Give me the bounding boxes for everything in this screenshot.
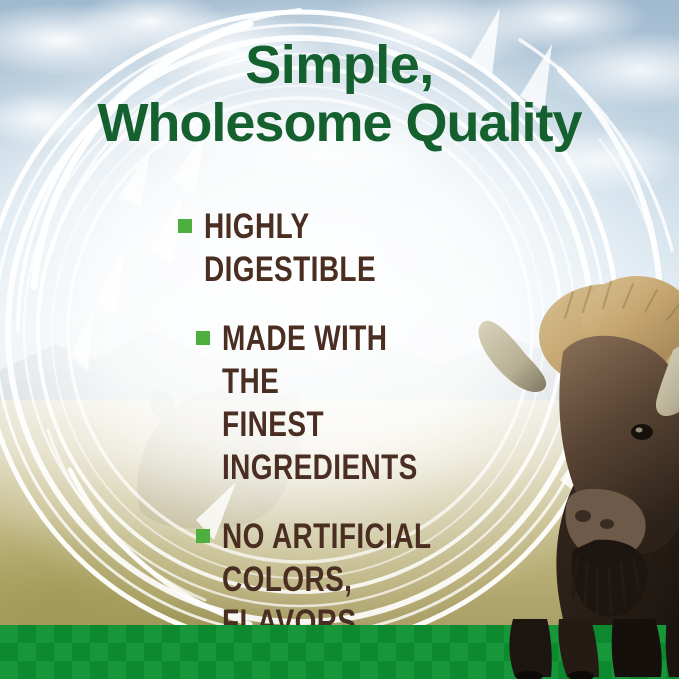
bullet-square-icon	[196, 529, 210, 543]
feature-bullet-list: Highly Digestible Made with the finest i…	[178, 205, 508, 679]
list-item-label: Highly Digestible	[204, 205, 447, 291]
list-item: Highly Digestible	[178, 205, 508, 291]
bison-legs-overlay	[455, 619, 679, 679]
banner-canvas: Simple, Wholesome Quality Highly Digesti…	[0, 0, 679, 679]
bullet-square-icon	[178, 219, 192, 233]
list-item: Made with the finest ingredients	[178, 317, 508, 489]
headline-line-1: Simple,	[0, 36, 679, 94]
page-title: Simple, Wholesome Quality	[0, 36, 679, 152]
headline-line-2: Wholesome Quality	[0, 94, 679, 152]
bullet-square-icon	[196, 331, 210, 345]
list-item-label: Made with the finest ingredients	[222, 317, 451, 489]
